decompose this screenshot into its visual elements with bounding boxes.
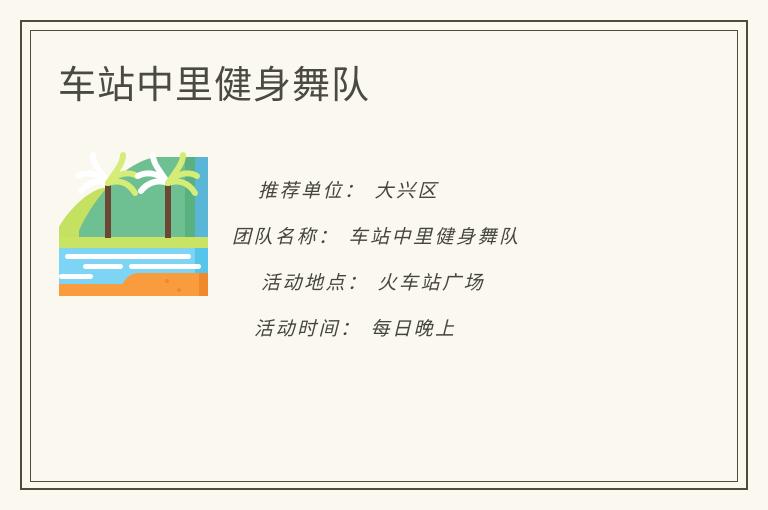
- info-row-activity-location: 活动地点： 火车站广场: [228, 260, 628, 306]
- beach-island-illustration: [59, 145, 208, 296]
- info-label-team-name: 团队名称：: [232, 226, 340, 248]
- info-value-activity-location: 火车站广场: [378, 272, 486, 294]
- wave-stroke-4: [59, 274, 93, 279]
- wave-stroke-1: [65, 254, 191, 259]
- info-row-recommending-unit: 推荐单位： 大兴区: [228, 168, 628, 214]
- poster-card: 车站中里健身舞队: [0, 0, 768, 510]
- info-value-team-name: 车站中里健身舞队: [349, 226, 521, 248]
- info-row-activity-time: 活动时间： 每日晚上: [228, 306, 628, 352]
- wave-stroke-2: [83, 264, 123, 269]
- info-block: 推荐单位： 大兴区 团队名称： 车站中里健身舞队 活动地点： 火车站广场 活动时…: [228, 168, 628, 352]
- info-label-activity-location: 活动地点：: [261, 272, 369, 294]
- sand-dot-2: [177, 288, 181, 292]
- page-title: 车站中里健身舞队: [58, 62, 370, 110]
- info-row-team-name: 团队名称： 车站中里健身舞队: [228, 214, 628, 260]
- info-label-recommending-unit: 推荐单位：: [258, 180, 366, 202]
- wave-stroke-3: [129, 264, 201, 269]
- sand-dune-shape: [122, 273, 208, 296]
- info-value-activity-time: 每日晚上: [371, 318, 457, 340]
- palm-trunk-2: [165, 183, 171, 238]
- info-label-activity-time: 活动时间：: [254, 318, 362, 340]
- sand-edge-shade: [199, 273, 208, 296]
- right-edge-strip-top: [195, 157, 208, 241]
- info-value-recommending-unit: 大兴区: [375, 180, 440, 202]
- lime-band-shape: [59, 237, 208, 248]
- sand-dot-1: [165, 279, 169, 283]
- palm-trunk-1: [105, 183, 111, 238]
- beach-island-icon: [59, 145, 208, 296]
